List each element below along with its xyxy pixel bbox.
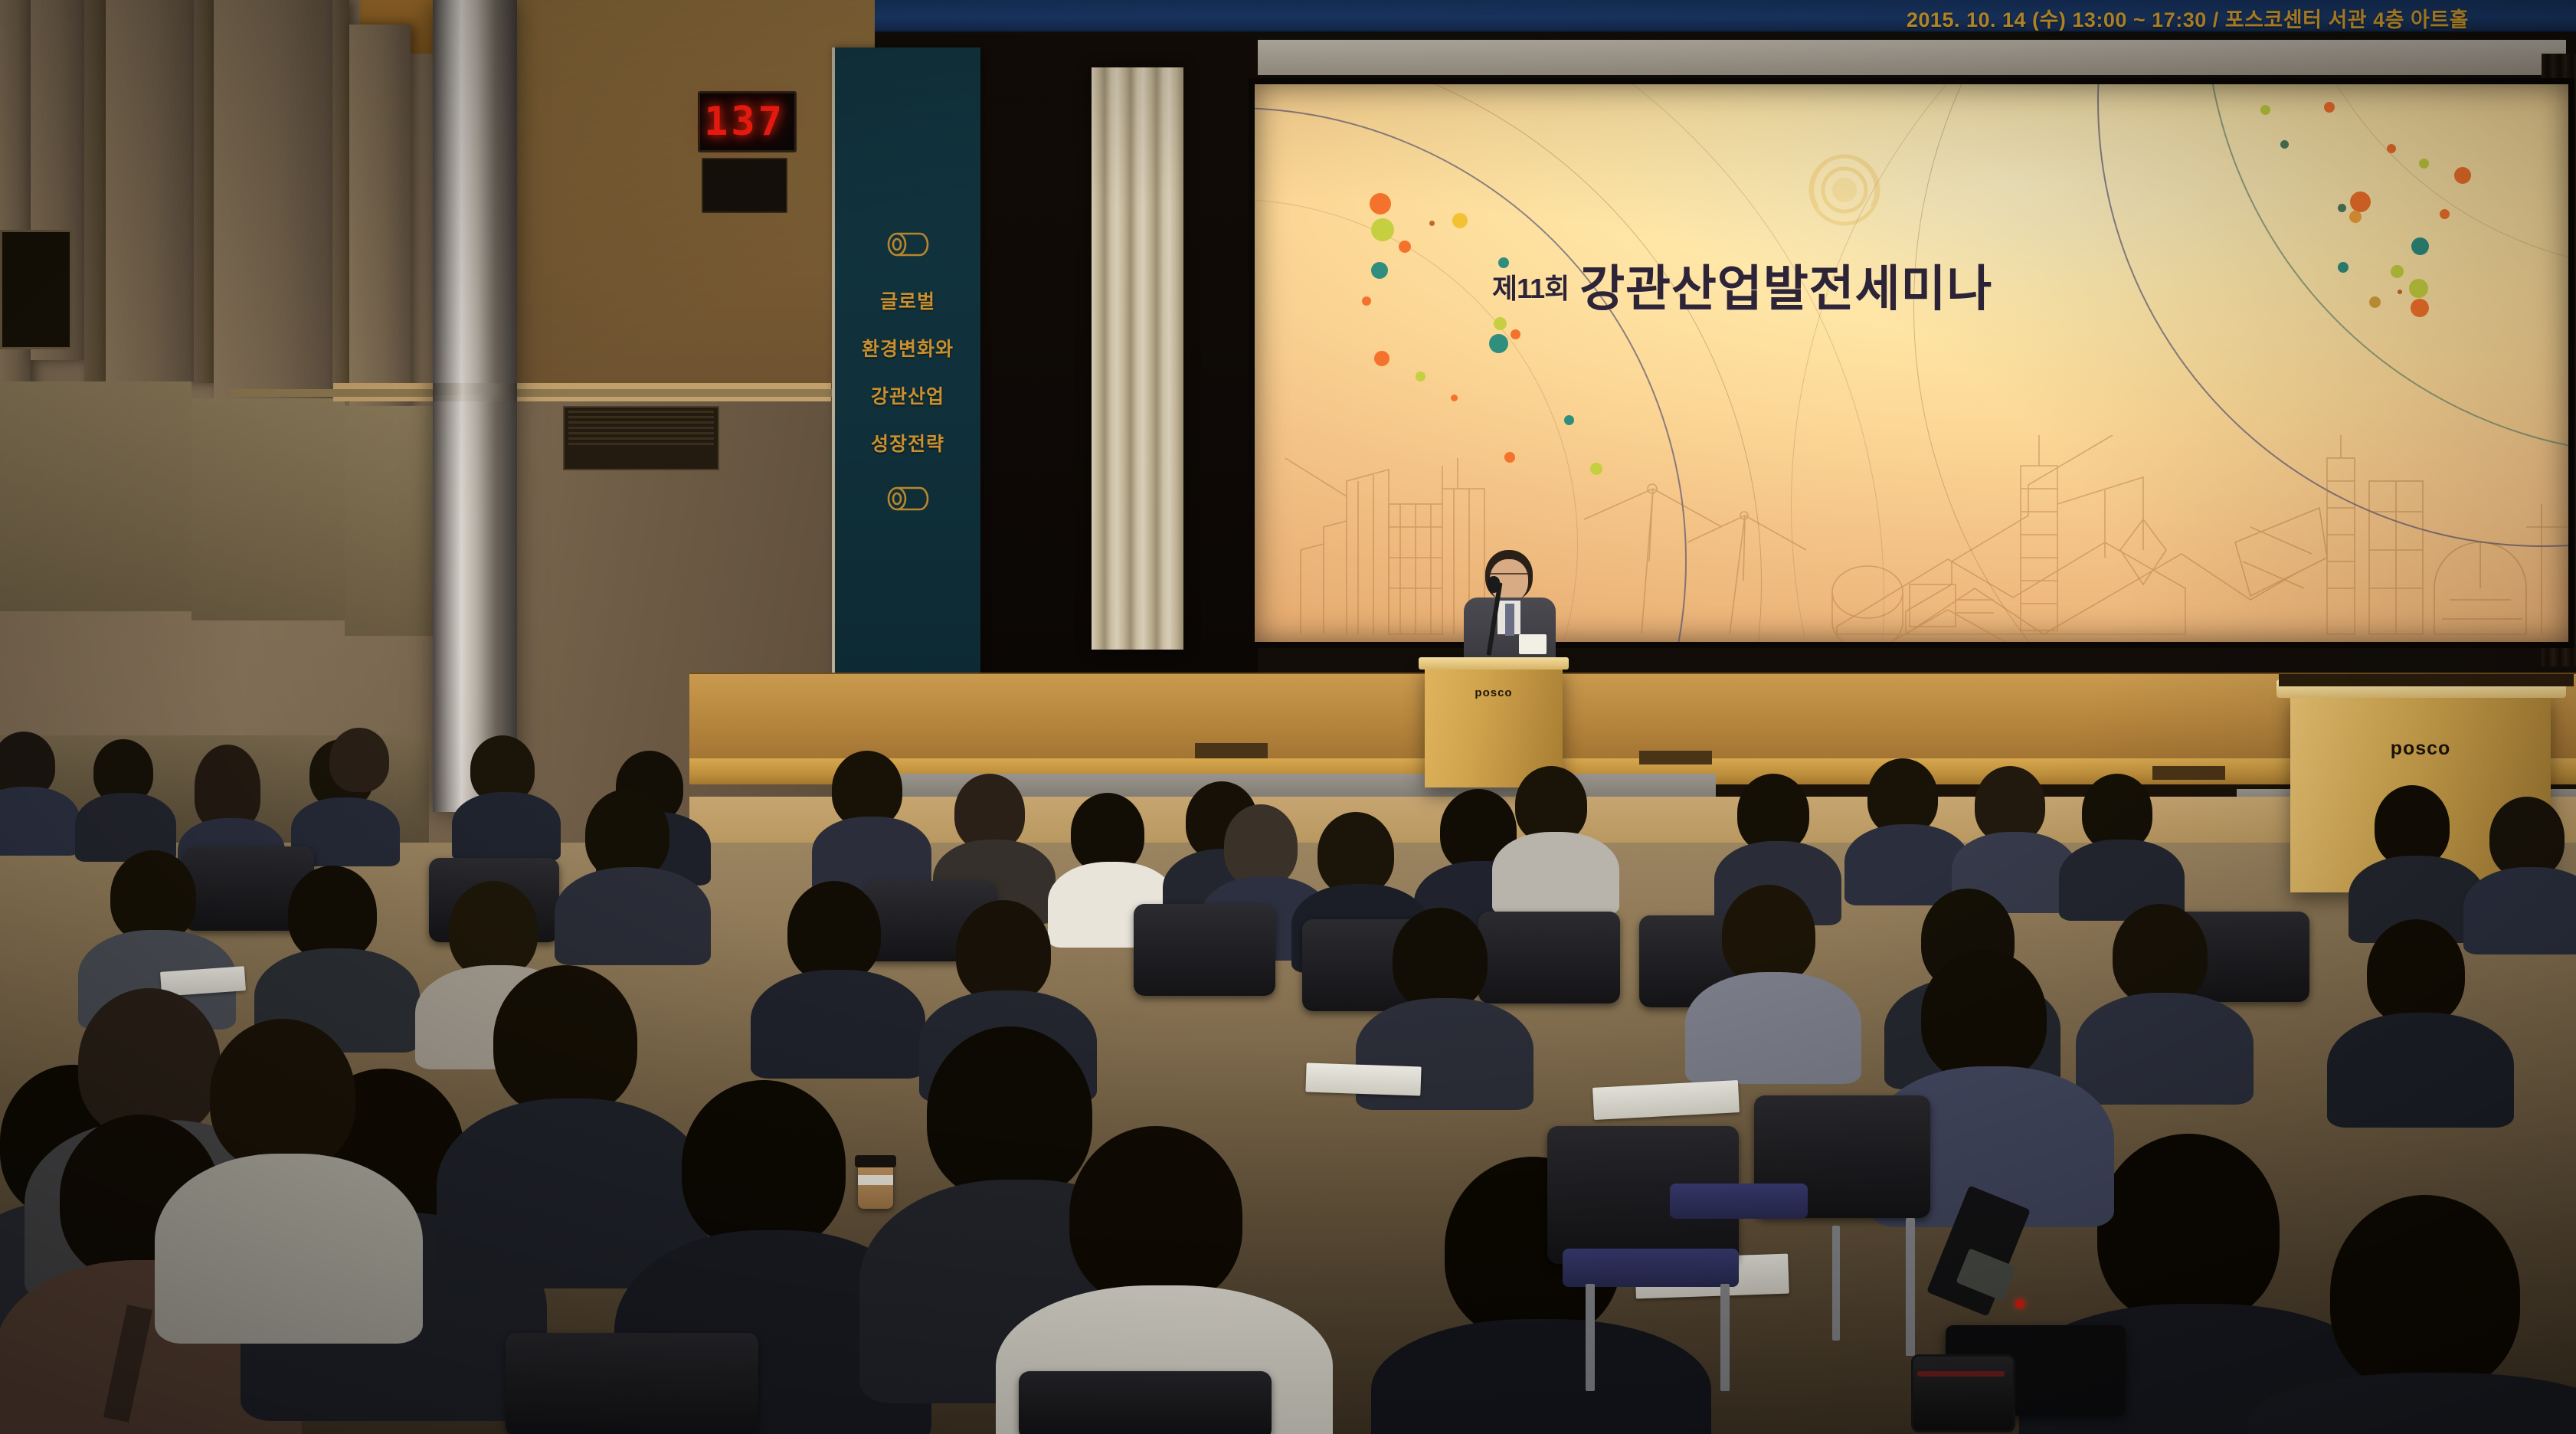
decor-dot	[2409, 279, 2428, 298]
decor-dot	[1511, 329, 1520, 339]
screen-title-main: 강관산업발전세미나	[1579, 261, 1992, 316]
chair-leg	[1832, 1226, 1840, 1341]
audience-member	[820, 751, 927, 885]
decor-dot	[2411, 237, 2429, 255]
wall-panel	[214, 0, 332, 402]
decor-dot	[2324, 102, 2335, 113]
seminar-booklet[interactable]	[1305, 1062, 1421, 1095]
lower-wall	[0, 381, 191, 611]
steel-pipe-icon	[883, 483, 932, 514]
projection-screen: 제11회강관산업발전세미나	[1255, 84, 2568, 642]
head	[1867, 758, 1938, 835]
shoulders	[1685, 972, 1861, 1084]
header-banner-text: 2015. 10. 14 (수) 13:00 ~ 17:30 / 포스코센터 서…	[1907, 3, 2469, 32]
audience-member	[460, 735, 559, 858]
speaker-name-badge	[1519, 634, 1547, 654]
side-banner-line: 글로벌	[880, 286, 935, 314]
audience-member	[2068, 774, 2183, 915]
wall-panel	[106, 0, 194, 381]
audience-member	[322, 728, 414, 843]
decor-dot	[1451, 395, 1458, 401]
wall-trim	[230, 389, 835, 397]
decor-dot	[2387, 144, 2396, 153]
wall-panel	[332, 0, 349, 398]
chair[interactable]	[506, 1333, 758, 1434]
header-banner: 2015. 10. 14 (수) 13:00 ~ 17:30 / 포스코센터 서…	[875, 0, 2576, 32]
head	[110, 850, 196, 942]
lens-red-ring	[1917, 1371, 2005, 1377]
column-ring	[433, 395, 517, 401]
structural-column	[433, 0, 517, 812]
decor-dot	[1429, 221, 1435, 226]
decor-dot	[2411, 299, 2429, 317]
decor-dot	[1371, 262, 1388, 279]
decor-dot	[2419, 159, 2429, 169]
shoulders	[155, 1154, 423, 1344]
audience-member	[2344, 919, 2505, 1115]
side-banner: 글로벌 환경변화와 강관산업 성장전략	[832, 47, 980, 695]
head	[956, 900, 1051, 1003]
stage-inset-vent	[1195, 743, 1268, 758]
decor-dot	[2338, 204, 2346, 212]
decor-dot	[1371, 218, 1394, 241]
head	[787, 881, 881, 982]
head	[1393, 908, 1488, 1010]
head	[1224, 804, 1298, 887]
industrial-lineart-icon	[1255, 435, 2568, 642]
podium-logo: posco	[1425, 686, 1563, 699]
side-banner-line: 강관산업	[871, 381, 944, 409]
clock-lower-module	[702, 158, 787, 213]
chair-leg	[1720, 1284, 1730, 1391]
head	[1317, 812, 1394, 895]
head	[2082, 774, 2152, 850]
head	[2489, 797, 2565, 878]
head	[1737, 774, 1809, 852]
audience-member	[0, 732, 77, 846]
speaker-tie	[1505, 604, 1514, 636]
shoulders	[1371, 1319, 1711, 1434]
wall-panel	[349, 25, 411, 408]
countdown-clock: 137	[698, 91, 797, 152]
decor-dot	[1374, 351, 1389, 366]
flash-status-led	[2015, 1299, 2024, 1308]
wall-panel	[194, 0, 214, 383]
chair-seat-cushion[interactable]	[1563, 1249, 1739, 1287]
decor-dot	[2440, 209, 2450, 219]
audience-member-front	[176, 1019, 406, 1325]
stage-inset-vent	[1639, 751, 1712, 764]
audience-member-front	[2283, 1195, 2576, 1434]
head	[682, 1080, 846, 1250]
screen-title-prefix: 제11회	[1492, 273, 1569, 304]
head	[449, 881, 538, 977]
microphone-head	[1488, 576, 1500, 593]
head	[832, 751, 902, 827]
podium-logo: posco	[2290, 738, 2551, 760]
shoulders	[2327, 1013, 2514, 1128]
decor-dot	[1399, 241, 1411, 253]
head	[329, 728, 389, 792]
shoulders	[2076, 993, 2254, 1105]
side-banner-line: 성장전략	[871, 429, 944, 457]
audience-member	[1700, 885, 1854, 1072]
head	[1515, 766, 1587, 843]
head	[1071, 793, 1144, 873]
decor-dot	[2338, 262, 2349, 273]
decor-dot	[2350, 192, 2371, 212]
decor-dot	[2349, 211, 2362, 223]
head	[954, 774, 1025, 850]
column-ring	[433, 383, 517, 395]
audience-member	[2091, 904, 2244, 1092]
dslr-camera-lens	[1911, 1354, 2015, 1432]
shoulders	[2247, 1373, 2576, 1434]
chair[interactable]	[1134, 904, 1275, 996]
screen-title: 제11회강관산업발전세미나	[1492, 250, 1992, 320]
wall-speaker-box	[0, 230, 72, 349]
side-banner-line: 환경변화와	[862, 334, 954, 362]
head	[1722, 885, 1815, 984]
head	[2113, 904, 2208, 1005]
decor-dot	[2391, 265, 2404, 278]
steel-pipe-icon	[883, 229, 932, 260]
head	[1975, 766, 2045, 843]
chair-seat-cushion[interactable]	[1670, 1184, 1808, 1219]
head	[2330, 1195, 2520, 1393]
decor-dot	[1452, 213, 1468, 228]
chair-leg	[1906, 1218, 1915, 1356]
audience-member	[268, 866, 414, 1042]
audience-member	[567, 789, 705, 958]
head	[288, 866, 377, 961]
head	[1921, 950, 2047, 1082]
shoulders	[1492, 832, 1619, 915]
shoulders	[452, 792, 561, 861]
head	[2367, 919, 2465, 1025]
decor-dot	[2369, 296, 2381, 308]
stage-curtain	[1092, 67, 1183, 650]
decor-dot	[1416, 372, 1425, 381]
air-vent-grille	[563, 406, 719, 470]
head	[1069, 1126, 1242, 1305]
podium-top-edge	[1419, 657, 1569, 670]
podium-shadow-bar	[2279, 674, 2574, 686]
decor-dot	[2260, 105, 2270, 115]
decor-dot	[1564, 415, 1574, 425]
clock-digits: 137	[704, 102, 794, 142]
audience-member	[84, 739, 176, 854]
shoulders	[0, 787, 80, 856]
auditorium-scene: 137 2015. 10. 14 (수) 13:00 ~ 17:30 / 포스코…	[0, 0, 2576, 1434]
chair[interactable]	[1019, 1371, 1272, 1434]
decor-dot	[2454, 167, 2471, 184]
proscenium-top-trim	[1256, 40, 2566, 75]
decor-dot	[2398, 290, 2402, 294]
head	[210, 1019, 355, 1170]
head	[195, 745, 260, 829]
swirl-emblem-icon	[1791, 146, 1898, 237]
lower-wall	[191, 398, 345, 620]
wall-panel	[84, 0, 106, 398]
chair-leg	[1586, 1284, 1595, 1391]
lower-wall	[345, 406, 437, 636]
decor-dot	[1362, 296, 1371, 306]
decor-dot	[2280, 140, 2289, 149]
decor-dot	[1489, 334, 1508, 353]
head	[2097, 1134, 2280, 1324]
head	[2375, 785, 2450, 866]
audience-member	[1501, 766, 1616, 912]
shoulders	[555, 867, 711, 965]
decor-dot	[1370, 193, 1391, 214]
head	[493, 965, 637, 1115]
head	[585, 789, 669, 879]
